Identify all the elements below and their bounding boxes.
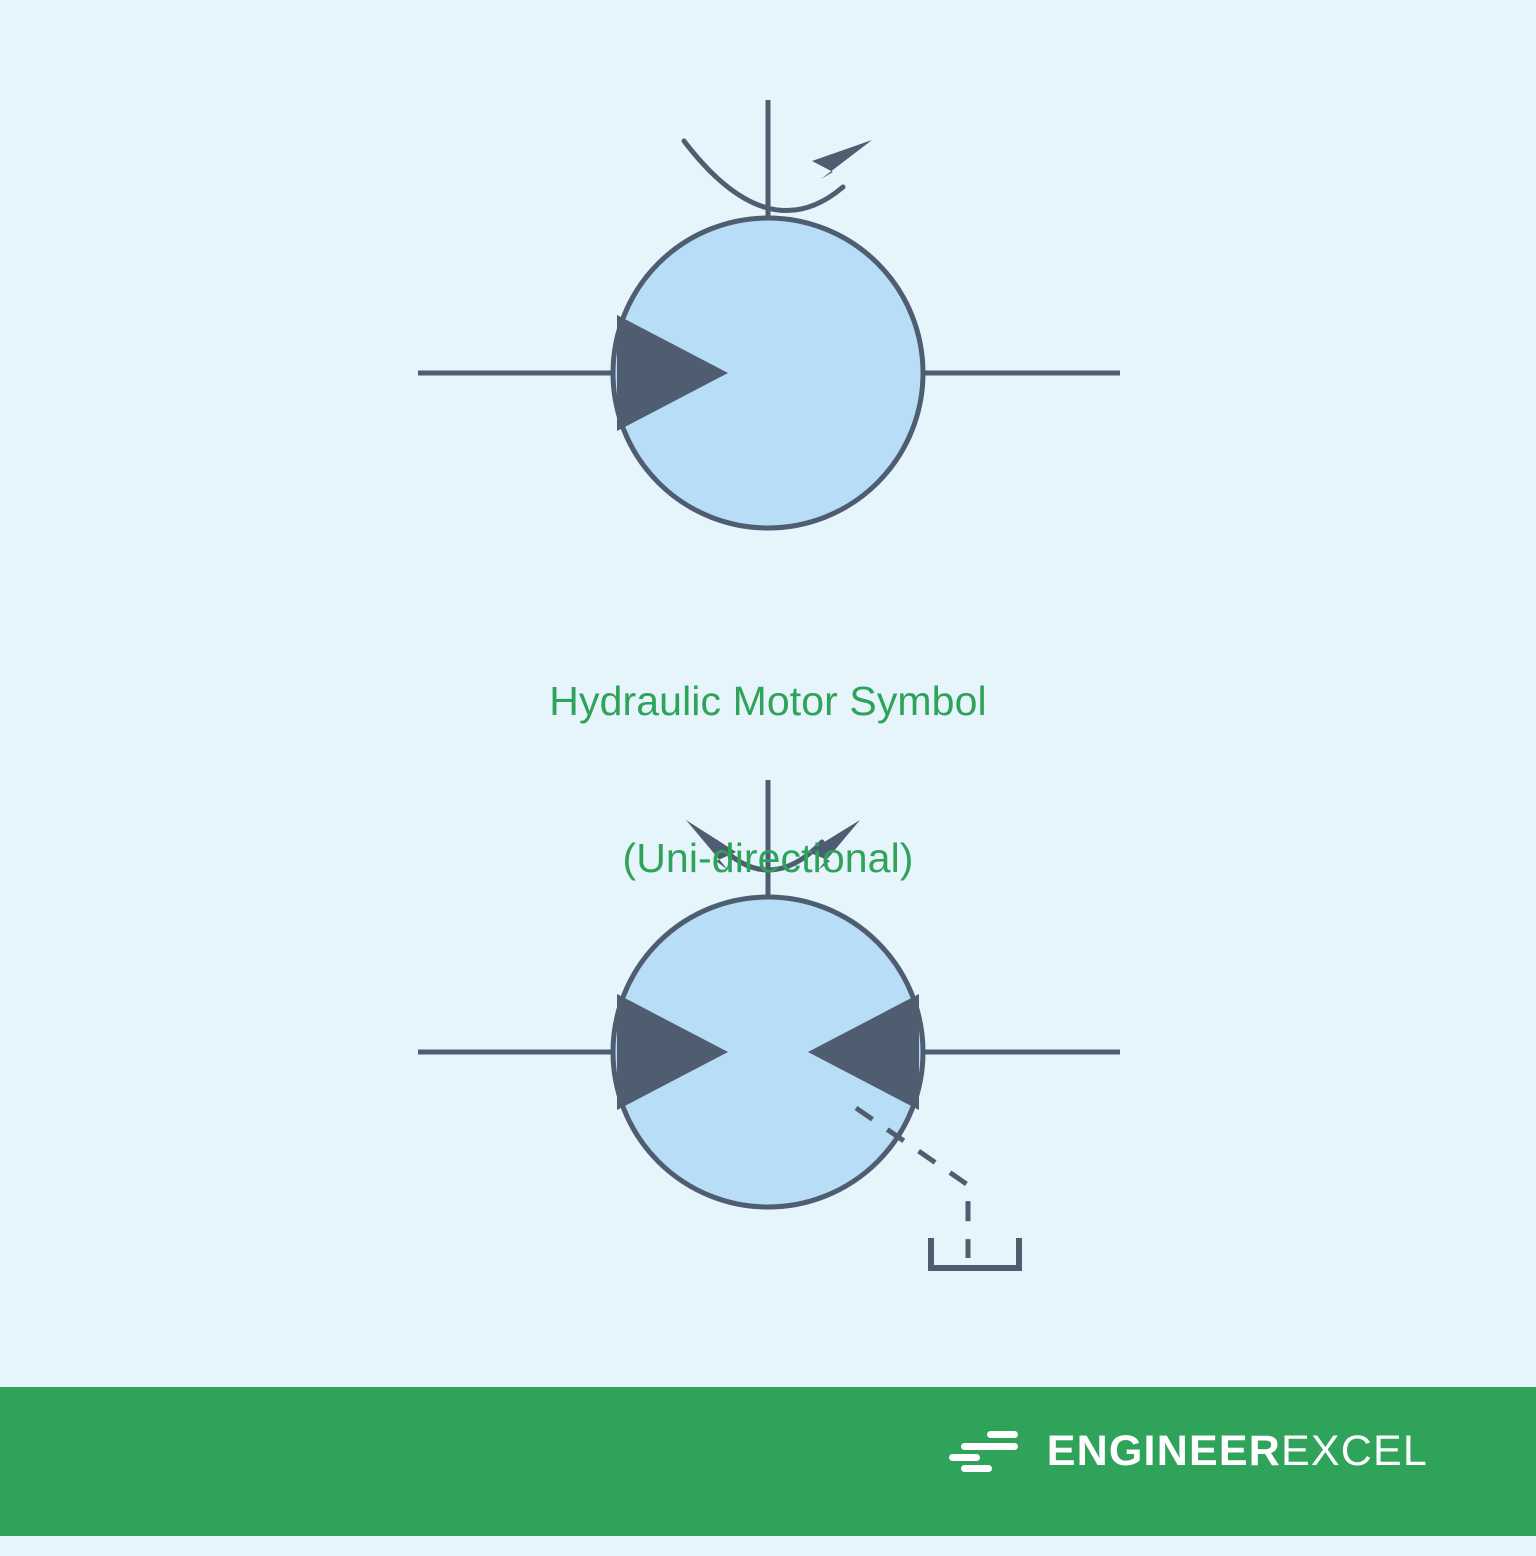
caption-unidirectional-line1: Hydraulic Motor Symbol bbox=[0, 675, 1536, 727]
unidirectional-motor-symbol bbox=[418, 100, 1120, 528]
caption-unidirectional-line2: (Uni-directional) bbox=[0, 832, 1536, 884]
rotation-arc-top bbox=[684, 141, 843, 211]
brand-name: ENGINEEREXCEL bbox=[1047, 1427, 1428, 1476]
speed-lines-icon bbox=[947, 1429, 1025, 1475]
diagram-canvas: Hydraulic Motor Symbol (Uni-directional)… bbox=[0, 0, 1536, 1536]
footer-bar: ENGINEEREXCEL bbox=[0, 1387, 1536, 1536]
brand-name-secondary: EXCEL bbox=[1281, 1427, 1428, 1475]
brand-logo[interactable]: ENGINEEREXCEL bbox=[947, 1427, 1428, 1476]
brand-name-primary: ENGINEER bbox=[1047, 1427, 1281, 1475]
caption-unidirectional: Hydraulic Motor Symbol (Uni-directional) bbox=[0, 570, 1536, 990]
reservoir-tank-symbol bbox=[931, 1238, 1019, 1268]
rotation-arrowhead-right-top bbox=[812, 140, 872, 179]
